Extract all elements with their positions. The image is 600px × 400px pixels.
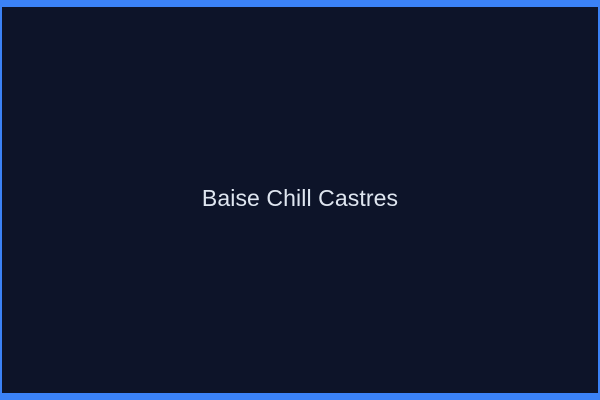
placeholder-banner: Baise Chill Castres [0, 0, 600, 400]
banner-caption: Baise Chill Castres [202, 185, 398, 213]
banner-stage: Baise Chill Castres [2, 7, 598, 393]
